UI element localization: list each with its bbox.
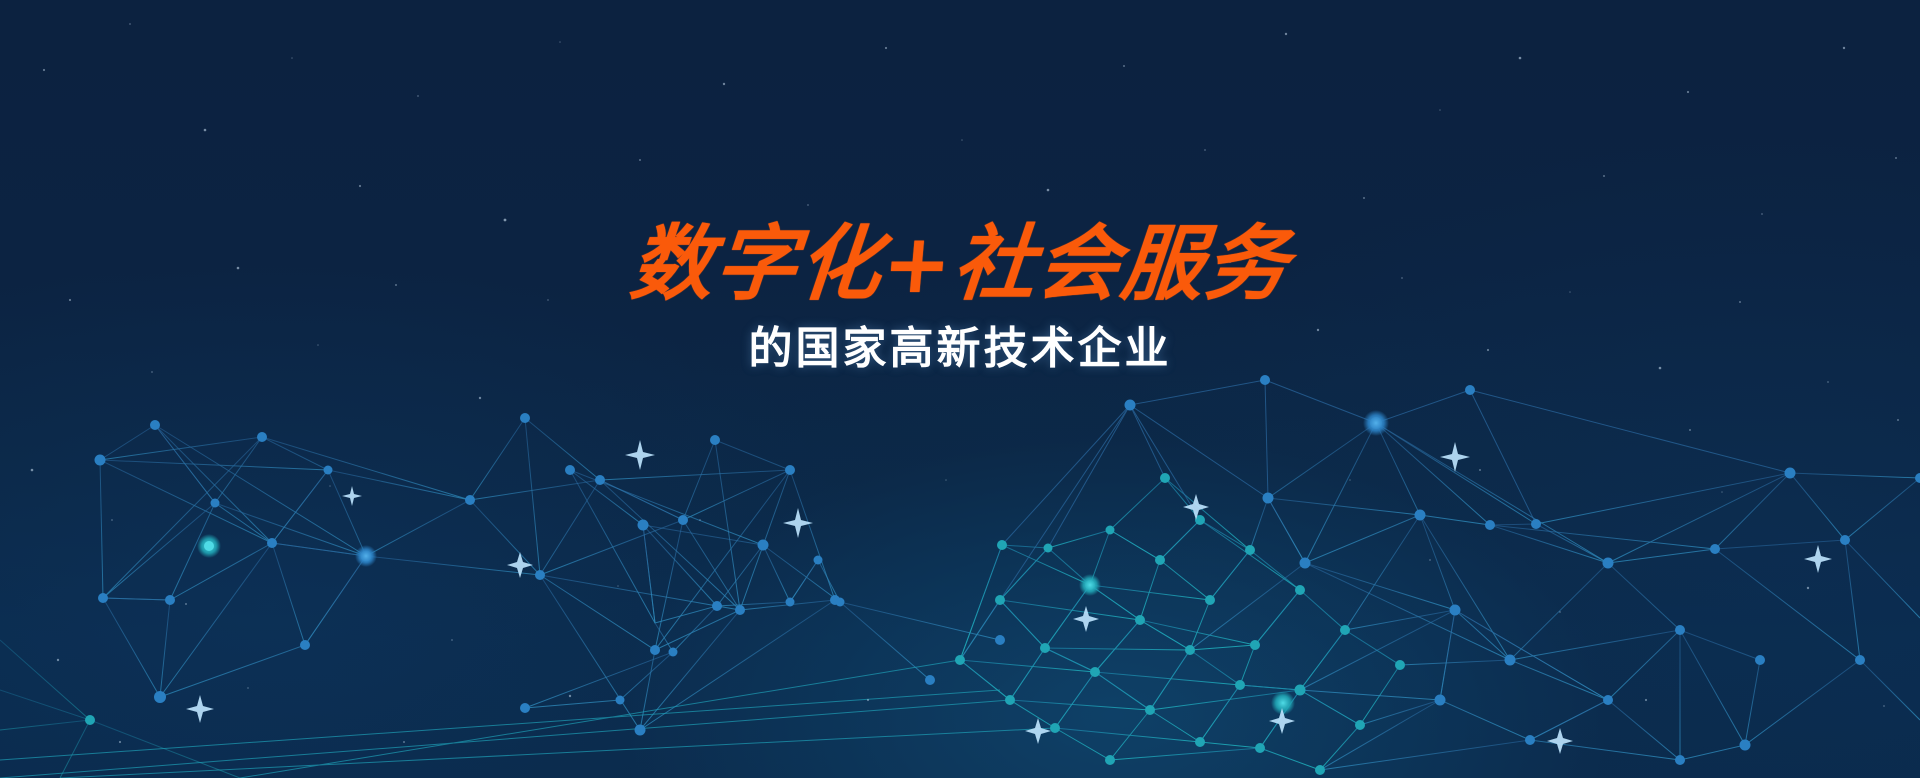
mesh-nodes-blue <box>95 375 1920 765</box>
mesh-group-left-center <box>540 440 835 730</box>
mesh-group-right <box>1190 423 1920 770</box>
mesh-group-center <box>525 470 1000 708</box>
four-point-sparkle <box>1547 728 1573 754</box>
four-point-sparkle <box>1269 708 1295 734</box>
four-point-sparkle <box>1440 442 1470 472</box>
page-title: 数字化+社会服务 <box>0 222 1920 309</box>
hero-banner: 数字化+社会服务 的国家高新技术企业 <box>0 0 1920 778</box>
four-point-sparkle-group <box>0 0 1920 778</box>
polygonal-network-mesh <box>0 0 1920 778</box>
mesh-group-upper-right <box>960 380 1790 660</box>
hero-text-block: 数字化+社会服务 的国家高新技术企业 <box>0 222 1920 376</box>
four-point-sparkle <box>342 486 362 506</box>
mesh-nodes-glow <box>197 410 1389 715</box>
mesh-nodes-teal <box>85 473 1405 775</box>
mesh-group-teal-cluster <box>960 478 1400 770</box>
mesh-group-bottom-left <box>0 640 240 778</box>
mesh-group-left <box>100 418 600 697</box>
four-point-sparkle <box>1183 494 1209 520</box>
page-subtitle: 的国家高新技术企业 <box>0 323 1920 376</box>
mesh-sweep-lines <box>0 660 1055 778</box>
four-point-sparkle <box>1073 606 1099 632</box>
four-point-sparkle <box>186 695 214 723</box>
four-point-sparkle <box>783 508 813 538</box>
four-point-sparkle <box>1025 718 1051 744</box>
four-point-sparkle <box>625 440 655 470</box>
four-point-sparkle <box>507 552 533 578</box>
starfield-dots <box>0 0 1920 778</box>
four-point-sparkle <box>1804 545 1832 573</box>
